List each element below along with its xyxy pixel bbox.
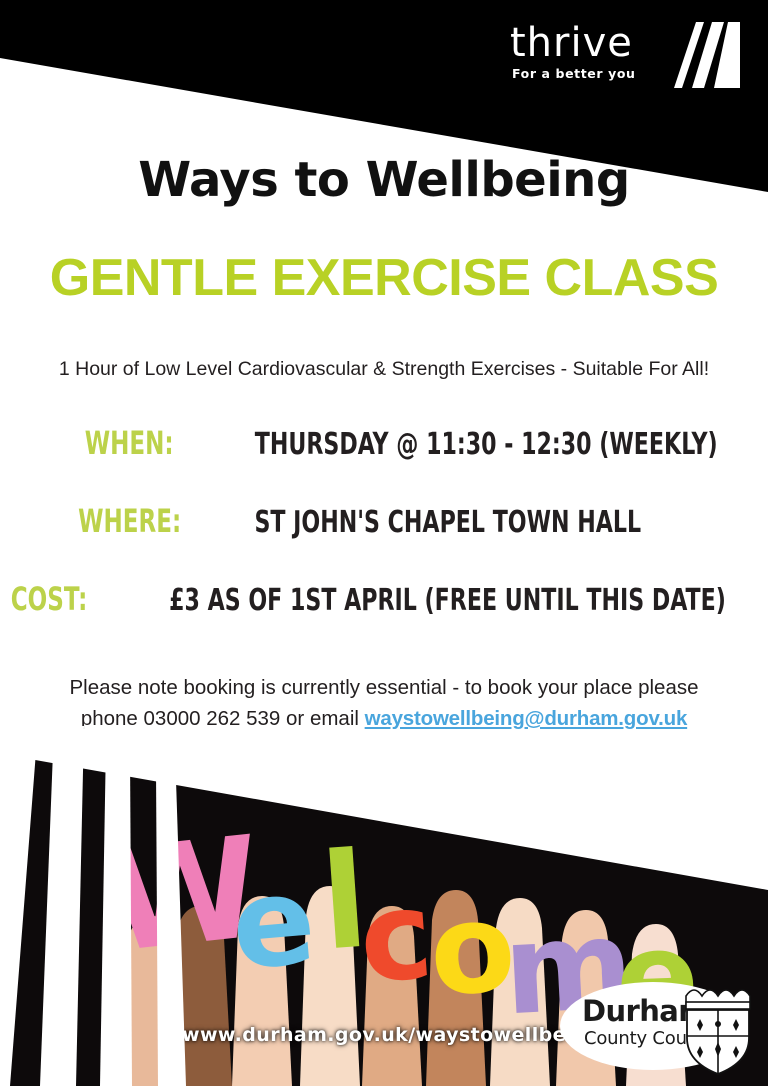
detail-value-where: ST JOHN'S CHAPEL TOWN HALL <box>254 505 641 540</box>
class-tagline: 1 Hour of Low Level Cardiovascular & Str… <box>0 358 768 381</box>
thrive-logo: thrive For a better you <box>510 22 740 94</box>
thrive-wordmark: thrive <box>510 22 660 64</box>
booking-line-2-prefix: phone 03000 262 539 or email <box>81 707 365 730</box>
durham-coat-of-arms-icon <box>680 972 756 1076</box>
thrive-stripes-icon <box>666 22 740 88</box>
detail-label-cost: COST: <box>11 580 97 618</box>
booking-line-1: Please note booking is currently essenti… <box>69 676 698 699</box>
page-title: Ways to Wellbeing <box>0 152 768 208</box>
booking-note: Please note booking is currently essenti… <box>46 672 722 734</box>
durham-county-council-logo: Durham County Council <box>542 968 762 1080</box>
detail-row-when: WHEN: THURSDAY @ 11:30 - 12:30 (WEEKLY) <box>0 424 768 502</box>
welcome-letter-c: c <box>356 874 437 1001</box>
detail-value-when: THURSDAY @ 11:30 - 12:30 (WEEKLY) <box>254 427 717 462</box>
details-list: WHEN: THURSDAY @ 11:30 - 12:30 (WEEKLY) … <box>0 424 768 658</box>
detail-row-where: WHERE: ST JOHN'S CHAPEL TOWN HALL <box>0 502 768 580</box>
detail-value-cost: £3 AS OF 1ST APRIL (FREE UNTIL THIS DATE… <box>169 583 726 618</box>
detail-label-where: WHERE: <box>21 502 191 540</box>
class-name-heading: GENTLE EXERCISE CLASS <box>0 248 768 308</box>
thrive-tagline: For a better you <box>512 66 636 81</box>
poster-root: thrive For a better you Ways to Wellbein… <box>0 0 768 1086</box>
detail-row-cost: COST: £3 AS OF 1ST APRIL (FREE UNTIL THI… <box>0 580 768 658</box>
email-link[interactable]: waystowellbeing@durham.gov.uk <box>365 707 688 730</box>
welcome-letter-e1: e <box>227 859 320 988</box>
website-url: www.durham.gov.uk/waystowellbeing <box>182 1024 601 1046</box>
detail-label-when: WHEN: <box>20 424 183 462</box>
